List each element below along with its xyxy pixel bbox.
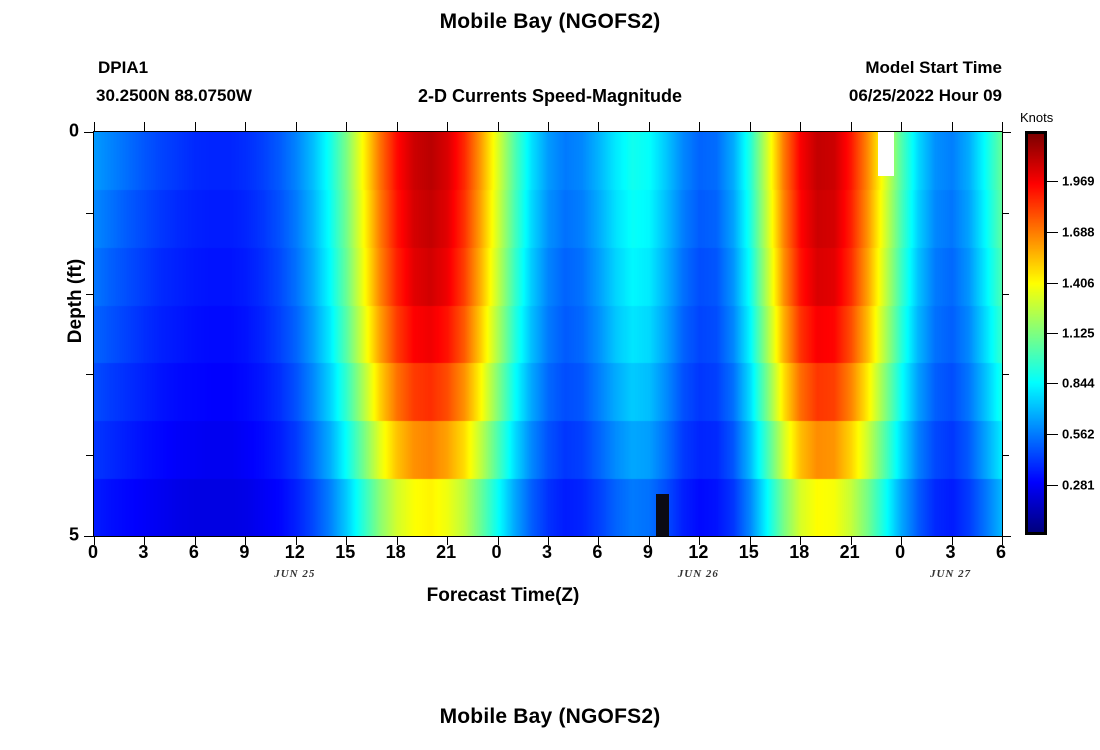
colorbar-tick — [1047, 485, 1058, 486]
colorbar-tick-label: 0.281 — [1062, 477, 1095, 492]
y-tick-label: 5 — [49, 525, 79, 546]
x-tick-label: 3 — [946, 542, 956, 563]
x-tick-label: 12 — [688, 542, 708, 563]
x-axis-tick — [397, 122, 398, 131]
x-axis-tick — [548, 122, 549, 131]
x-axis-tick — [649, 122, 650, 131]
x-tick-label: 9 — [239, 542, 249, 563]
station-id-label: DPIA1 — [98, 58, 148, 78]
x-axis-tick — [800, 122, 801, 131]
x-tick-label: 3 — [542, 542, 552, 563]
y-axis-minor-tick — [86, 213, 93, 214]
heatmap-field — [94, 132, 1002, 536]
y-axis-minor-tick — [1002, 294, 1009, 295]
x-axis-tick — [1002, 122, 1003, 131]
x-tick-label: 21 — [436, 542, 456, 563]
x-axis-tick — [699, 122, 700, 131]
footer-title: Mobile Bay (NGOFS2) — [0, 705, 1100, 729]
y-axis-minor-tick — [86, 374, 93, 375]
x-tick-label: 0 — [895, 542, 905, 563]
x-axis-tick — [195, 122, 196, 131]
colorbar-tick — [1047, 283, 1058, 284]
x-axis-tick — [598, 122, 599, 131]
x-axis-tick — [245, 122, 246, 131]
model-start-time-value: 06/25/2022 Hour 09 — [849, 86, 1002, 106]
x-tick-label: 6 — [189, 542, 199, 563]
date-label: JUN 25 — [274, 568, 315, 580]
y-axis-tick — [84, 536, 93, 537]
x-axis-tick — [901, 122, 902, 131]
y-axis-minor-tick — [1002, 374, 1009, 375]
x-axis-title: Forecast Time(Z) — [0, 585, 1006, 607]
x-tick-label: 6 — [592, 542, 602, 563]
colorbar-tick-label: 1.406 — [1062, 275, 1095, 290]
x-axis-tick — [447, 122, 448, 131]
x-axis-tick — [346, 122, 347, 131]
colorbar-tick — [1047, 383, 1058, 384]
x-tick-label: 3 — [138, 542, 148, 563]
x-tick-label: 15 — [335, 542, 355, 563]
x-tick-label: 15 — [739, 542, 759, 563]
x-axis-tick — [498, 122, 499, 131]
y-axis-tick — [1002, 536, 1011, 537]
missing-data-gap — [878, 132, 895, 176]
x-tick-label: 6 — [996, 542, 1006, 563]
x-axis-tick — [952, 122, 953, 131]
colorbar-tick-label: 1.969 — [1062, 174, 1095, 189]
x-axis-tick — [94, 122, 95, 131]
x-axis-tick — [144, 122, 145, 131]
x-axis-tick — [296, 122, 297, 131]
y-tick-label: 0 — [49, 121, 79, 142]
x-tick-label: 9 — [643, 542, 653, 563]
y-axis-tick — [84, 132, 93, 133]
x-tick-label: 21 — [840, 542, 860, 563]
colorbar-tick — [1047, 333, 1058, 334]
y-axis-title: Depth (ft) — [65, 221, 87, 381]
y-axis-minor-tick — [86, 294, 93, 295]
heatmap-plot-area — [93, 131, 1003, 537]
y-axis-minor-tick — [1002, 455, 1009, 456]
x-axis-tick — [851, 122, 852, 131]
chart-canvas: Mobile Bay (NGOFS2) DPIA1 30.2500N 88.07… — [0, 0, 1100, 750]
date-label: JUN 26 — [678, 568, 719, 580]
colorbar — [1025, 131, 1047, 535]
colorbar-unit-label: Knots — [1020, 110, 1053, 125]
x-axis-tick — [750, 122, 751, 131]
x-tick-label: 12 — [285, 542, 305, 563]
model-start-time-label: Model Start Time — [865, 58, 1002, 78]
page-title: Mobile Bay (NGOFS2) — [0, 10, 1100, 34]
date-label: JUN 27 — [930, 568, 971, 580]
colorbar-tick — [1047, 181, 1058, 182]
x-tick-label: 18 — [789, 542, 809, 563]
y-axis-minor-tick — [1002, 213, 1009, 214]
colorbar-tick-label: 0.844 — [1062, 376, 1095, 391]
x-tick-label: 0 — [492, 542, 502, 563]
colorbar-tick — [1047, 232, 1058, 233]
colorbar-gradient — [1028, 134, 1044, 532]
y-axis-tick — [1002, 132, 1011, 133]
x-tick-label: 18 — [386, 542, 406, 563]
colorbar-tick-label: 0.562 — [1062, 427, 1095, 442]
out-of-range-marker — [656, 494, 669, 536]
y-axis-minor-tick — [86, 455, 93, 456]
colorbar-tick — [1047, 434, 1058, 435]
x-tick-label: 0 — [88, 542, 98, 563]
colorbar-tick-label: 1.125 — [1062, 326, 1095, 341]
colorbar-tick-label: 1.688 — [1062, 224, 1095, 239]
